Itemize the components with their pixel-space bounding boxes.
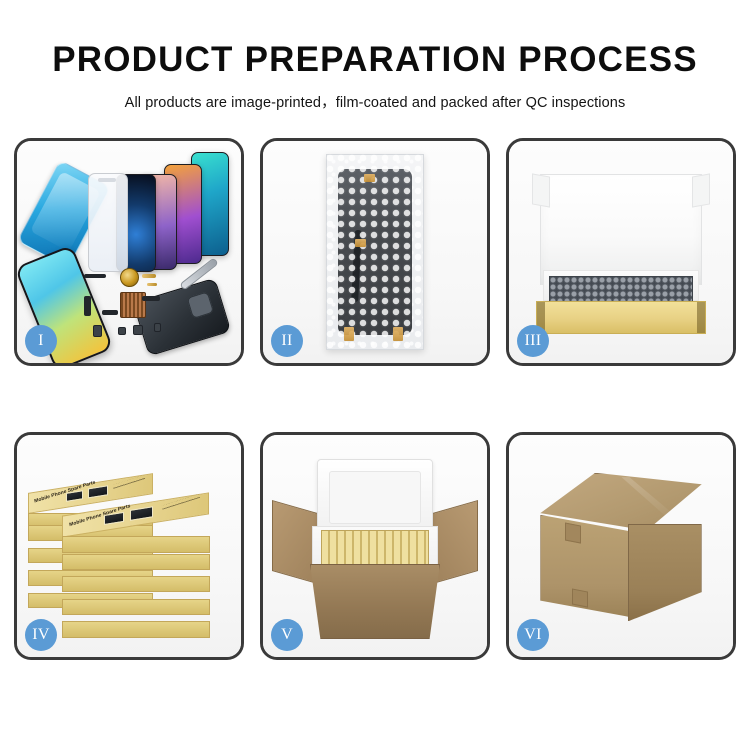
step-panel-5: V bbox=[260, 432, 490, 660]
carton-body bbox=[310, 564, 440, 639]
step-panel-1: I bbox=[14, 138, 244, 366]
step-badge-6: VI bbox=[517, 619, 549, 651]
box-spec-lines bbox=[113, 475, 145, 489]
step-badge-5: V bbox=[271, 619, 303, 651]
box-spec-lines bbox=[162, 494, 200, 510]
phone-back-housing-icon bbox=[133, 278, 232, 357]
box-window-icon bbox=[130, 507, 153, 521]
product-preparation-infographic: PRODUCT PREPARATION PROCESS All products… bbox=[0, 0, 750, 750]
tape-icon bbox=[355, 239, 366, 247]
flex-cable-icon bbox=[84, 296, 91, 316]
tempered-glass-icon bbox=[88, 173, 128, 272]
small-part-icon bbox=[118, 327, 126, 335]
step-panel-3: III bbox=[506, 138, 736, 366]
step-badge-3: III bbox=[517, 325, 549, 357]
phone-lineup bbox=[116, 157, 237, 272]
small-part-icon bbox=[93, 325, 102, 337]
small-part-icon bbox=[154, 323, 161, 332]
speaker-coil-icon bbox=[120, 268, 139, 287]
step-panel-4: Mobile Phone Spare Parts bbox=[14, 432, 244, 660]
box-window-icon bbox=[66, 490, 83, 502]
small-part-icon bbox=[133, 325, 143, 335]
step-4-image: Mobile Phone Spare Parts bbox=[17, 435, 241, 657]
kraft-box-tray bbox=[536, 301, 706, 334]
page-title: PRODUCT PREPARATION PROCESS bbox=[0, 42, 750, 77]
header: PRODUCT PREPARATION PROCESS All products… bbox=[0, 0, 750, 112]
retail-box bbox=[62, 610, 209, 638]
tape-icon bbox=[393, 327, 403, 341]
step-badge-1: I bbox=[25, 325, 57, 357]
gold-connector-icon bbox=[142, 274, 156, 278]
box-window-icon bbox=[104, 512, 124, 525]
step-1-image: I bbox=[17, 141, 241, 363]
lcd-screen-icon bbox=[338, 169, 412, 335]
step-6-image: VI bbox=[509, 435, 733, 657]
step-5-image: V bbox=[263, 435, 487, 657]
gold-connector-icon bbox=[147, 283, 157, 286]
foam-lid bbox=[540, 174, 701, 285]
box-window-icon bbox=[88, 486, 108, 499]
tape-icon bbox=[364, 174, 375, 182]
step-badge-2: II bbox=[271, 325, 303, 357]
step-2-image: II bbox=[263, 141, 487, 363]
page-subtitle: All products are image-printed，film-coat… bbox=[0, 91, 750, 112]
box-side-face bbox=[62, 621, 209, 637]
tape-icon bbox=[565, 522, 581, 543]
carton-side-face bbox=[628, 524, 702, 622]
flex-cable-icon bbox=[84, 274, 106, 278]
step-panel-2: II bbox=[260, 138, 490, 366]
flex-cable-icon bbox=[102, 310, 118, 315]
step-badge-4: IV bbox=[25, 619, 57, 651]
bubble-wrapped-contents bbox=[549, 276, 692, 303]
step-panel-6: VI bbox=[506, 432, 736, 660]
process-steps-grid: I II III bbox=[14, 138, 736, 686]
flex-cable-icon bbox=[142, 296, 160, 301]
step-3-image: III bbox=[509, 141, 733, 363]
tape-icon bbox=[344, 327, 354, 341]
yellow-boxes-stacked bbox=[321, 530, 429, 568]
retail-box-stack: Mobile Phone Spare Parts bbox=[28, 466, 230, 639]
foam-lid bbox=[317, 459, 433, 534]
